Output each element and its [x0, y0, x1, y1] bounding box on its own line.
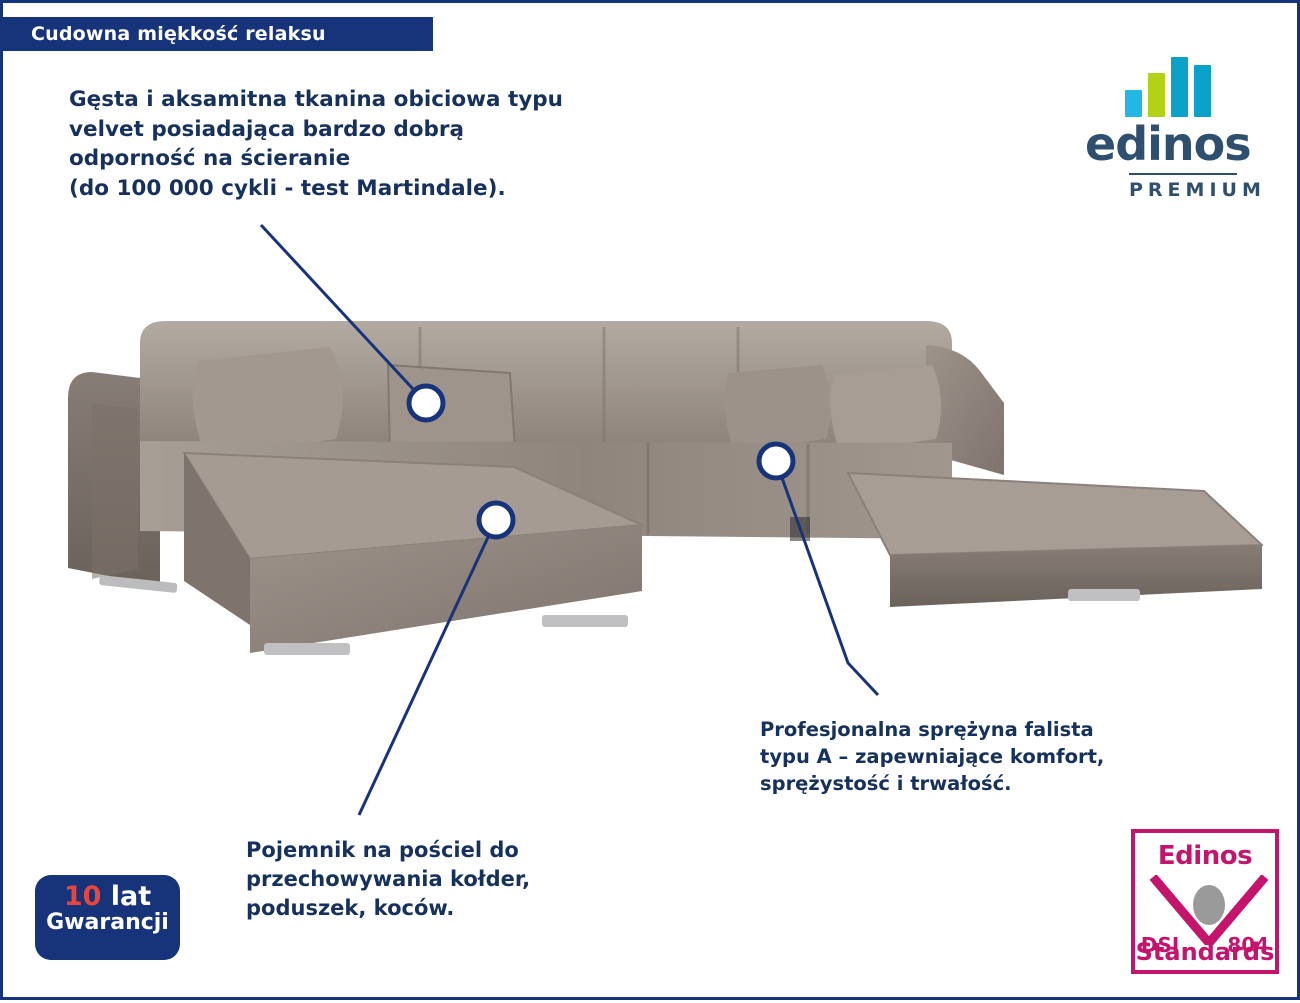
- dsi-standards-badge: Edinos DSI 804 Standards: [1131, 829, 1279, 974]
- logo-divider: [1129, 173, 1237, 175]
- infographic-root: Cudowna miękkość relaksu: [0, 0, 1300, 1000]
- sofa-illustration: [48, 303, 1263, 693]
- page-title: Cudowna miękkość relaksu: [3, 23, 326, 45]
- logo-wordmark: edinos: [1085, 117, 1251, 171]
- warranty-number: 10: [64, 881, 102, 912]
- dsi-brand: Edinos: [1135, 841, 1275, 871]
- logo-bars-icon: [1125, 55, 1225, 117]
- callout-fabric-text: Gęsta i aksamitna tkanina obiciowa typu …: [69, 85, 563, 204]
- warranty-badge: 10 lat Gwarancji: [35, 875, 180, 960]
- logo-bar-1: [1125, 90, 1142, 117]
- warranty-unit: lat: [111, 881, 151, 912]
- logo-bar-4: [1194, 65, 1211, 117]
- brand-logo: edinos PREMIUM: [1083, 55, 1263, 220]
- logo-subtitle: PREMIUM: [1129, 179, 1266, 201]
- callout-storage-text: Pojemnik na pościel do przechowywania ko…: [246, 836, 530, 923]
- logo-bar-2: [1148, 73, 1165, 117]
- dsi-standards-label: Standards: [1135, 938, 1275, 966]
- callout-spring-text: Profesjonalna sprężyna falista typu A – …: [760, 717, 1104, 798]
- logo-bar-3: [1171, 57, 1188, 117]
- warranty-years: 10 lat: [35, 883, 180, 911]
- product-image: [48, 303, 1263, 693]
- header-ribbon: Cudowna miękkość relaksu: [3, 17, 433, 51]
- warranty-label: Gwarancji: [35, 911, 180, 935]
